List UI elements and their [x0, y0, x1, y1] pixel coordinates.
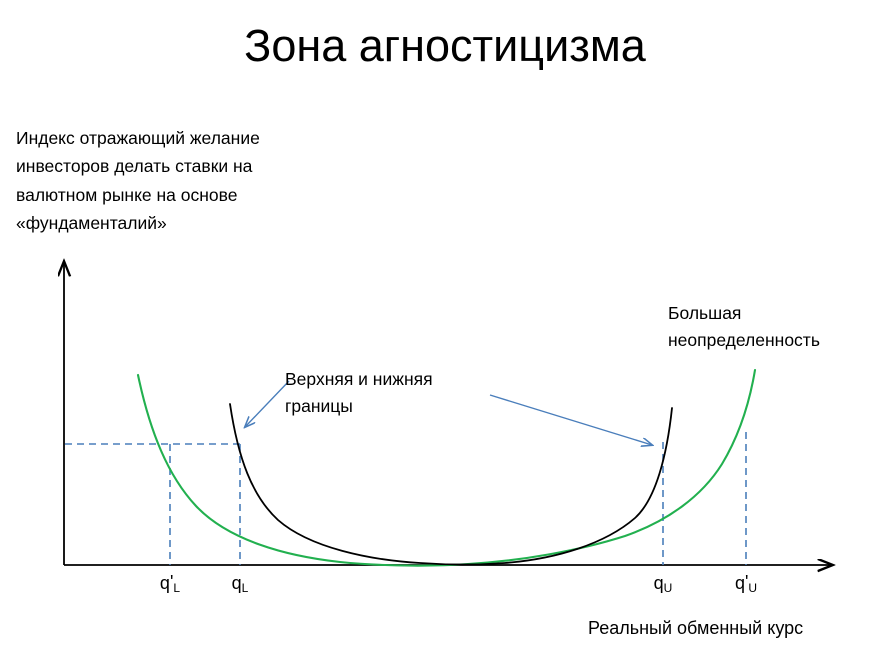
annotation-arrow-right — [490, 395, 652, 445]
annotation-uncertainty-line: Большая — [668, 300, 883, 327]
tick-base: q — [232, 573, 242, 593]
tick-base: q — [654, 573, 664, 593]
tick-sub: U — [664, 581, 673, 595]
x-tick-label-q-l: qL — [232, 573, 249, 594]
annotation-uncertainty: Большая неопределенность — [668, 300, 883, 354]
tick-sub: L — [173, 581, 180, 595]
annotation-uncertainty-line: неопределенность — [668, 327, 883, 354]
annotation-arrow-left — [245, 381, 289, 427]
tick-base: q — [735, 573, 745, 593]
tick-sub: L — [242, 581, 249, 595]
tick-base: q — [160, 573, 170, 593]
tick-sub: U — [748, 581, 757, 595]
annotation-bounds-line: Верхняя и нижняя — [285, 366, 490, 393]
x-tick-label-q-prime-u: q'U — [735, 573, 757, 594]
annotation-bounds-line: границы — [285, 393, 490, 420]
slide-canvas: Зона агностицизма Индекс отражающий жела… — [0, 0, 890, 658]
x-tick-label-q-prime-l: q'L — [160, 573, 180, 594]
inner-curve-black — [230, 404, 672, 565]
x-tick-label-q-u: qU — [654, 573, 673, 594]
x-axis-title: Реальный обменный курс — [588, 618, 803, 639]
annotation-bounds: Верхняя и нижняя границы — [285, 366, 490, 420]
